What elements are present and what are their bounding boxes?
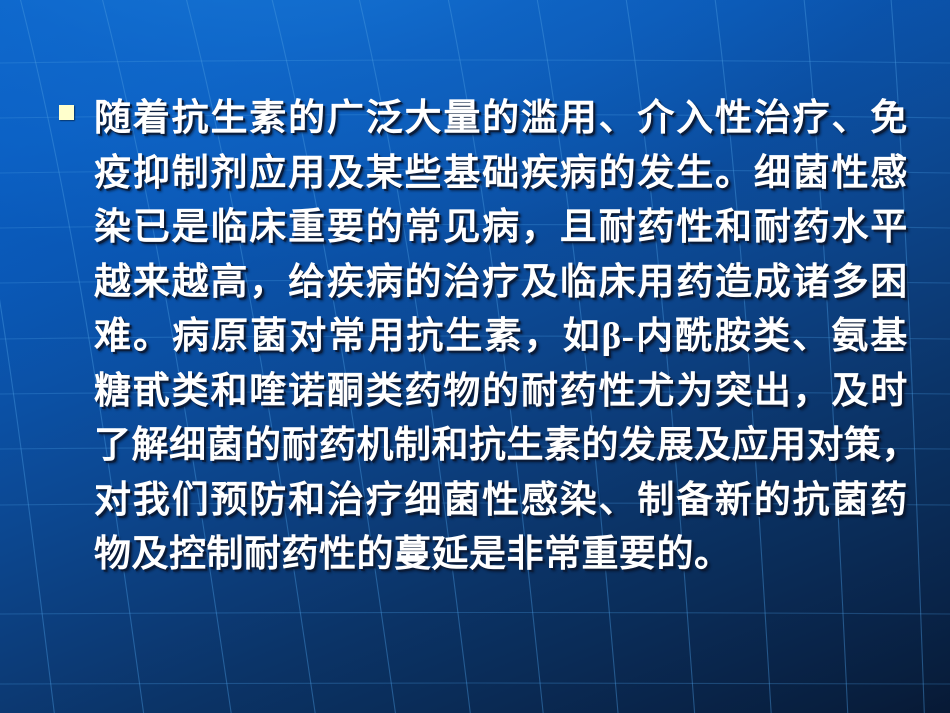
text-glyph: 临 — [210, 201, 248, 256]
text-glyph: 时 — [870, 365, 908, 420]
text-line-9: 物及控制耐药性的蔓延是非常重要的。 — [94, 528, 908, 583]
text-glyph: 泛 — [366, 92, 404, 147]
text-glyph: 内 — [636, 310, 674, 365]
text-glyph: 生 — [676, 147, 714, 202]
text-glyph: 疗 — [793, 92, 831, 147]
text-glyph: 着 — [133, 92, 171, 147]
text-glyph: 性 — [482, 474, 520, 529]
text-glyph: 原 — [211, 310, 249, 365]
text-glyph: 重 — [288, 201, 326, 256]
text-glyph: 滥 — [521, 92, 559, 147]
text-glyph: 用 — [560, 92, 598, 147]
text-glyph: 药 — [676, 256, 714, 311]
text-glyph: 预 — [210, 474, 248, 529]
text-glyph: 的 — [582, 419, 620, 474]
text-glyph: ， — [249, 256, 287, 311]
text-glyph: 应 — [249, 147, 287, 202]
text-glyph: 的 — [754, 474, 792, 529]
text-glyph: 制 — [172, 147, 210, 202]
text-glyph: 喹 — [249, 365, 287, 420]
text-glyph: 来 — [133, 256, 171, 311]
text-glyph: 疗 — [366, 474, 404, 529]
text-glyph: 类 — [172, 365, 210, 420]
text-glyph: 甙 — [133, 365, 171, 420]
text-glyph: 诸 — [793, 256, 831, 311]
text-glyph: 素 — [249, 92, 287, 147]
text-glyph: 见 — [443, 201, 481, 256]
text-glyph: 、 — [792, 310, 830, 365]
text-glyph: 及 — [694, 419, 732, 474]
text-glyph: 疫 — [94, 147, 132, 202]
text-line-4: 越来越高，给疾病的治疗及临床用药造成诸多困 — [94, 256, 908, 311]
text-glyph: 抗 — [172, 92, 210, 147]
square-bullet-icon — [59, 105, 74, 120]
text-line-2: 疫抑制剂应用及某些基础疾病的发生。细菌性感 — [94, 147, 908, 202]
text-glyph: 、 — [599, 474, 637, 529]
text-glyph: 给 — [288, 256, 326, 311]
text-glyph: 要 — [327, 201, 365, 256]
text-glyph: 及 — [831, 365, 869, 420]
text-glyph: 展 — [657, 419, 695, 474]
bullet-paragraph: 随着抗生素的广泛大量的滥用、介入性治疗、免 疫抑制剂应用及某些基础疾病的发生。细… — [52, 92, 908, 583]
text-glyph: 用 — [769, 419, 807, 474]
text-glyph: 。 — [715, 147, 753, 202]
text-glyph: 类 — [753, 310, 791, 365]
text-glyph: 尤 — [637, 365, 675, 420]
text-glyph: 、 — [599, 92, 637, 147]
text-glyph: 性 — [831, 147, 869, 202]
text-glyph: 免 — [870, 92, 908, 147]
text-glyph: 药 — [793, 201, 831, 256]
text-glyph: 用 — [367, 310, 405, 365]
text-glyph: 广 — [327, 92, 365, 147]
text-glyph: 和 — [210, 365, 248, 420]
text-glyph: 药 — [405, 365, 443, 420]
text-glyph: 耐 — [599, 201, 637, 256]
text-glyph: 解 — [132, 419, 170, 474]
text-glyph: ， — [793, 365, 831, 420]
text-glyph: 用 — [288, 147, 326, 202]
text-glyph: 某 — [366, 147, 404, 202]
text-glyph: 已 — [133, 201, 171, 256]
text-glyph: 越 — [94, 256, 132, 311]
text-glyph: 、 — [831, 92, 869, 147]
text-glyph: 抗 — [406, 310, 444, 365]
text-glyph: 用 — [637, 256, 675, 311]
text-glyph: 病 — [560, 147, 598, 202]
text-glyph: 菌 — [831, 474, 869, 529]
text-glyph: ， — [524, 310, 562, 365]
text-glyph: 性 — [599, 365, 637, 420]
text-glyph: 氨 — [831, 310, 869, 365]
text-glyph: 们 — [172, 474, 210, 529]
text-glyph: 如 — [563, 310, 601, 365]
text-glyph: 剂 — [210, 147, 248, 202]
text-glyph: 困 — [870, 256, 908, 311]
text-glyph: 发 — [637, 147, 675, 202]
text-glyph: 染 — [94, 201, 132, 256]
text-glyph: 应 — [732, 419, 770, 474]
text-glyph: 细 — [169, 419, 207, 474]
text-glyph: 染 — [560, 474, 598, 529]
text-glyph: 的 — [599, 147, 637, 202]
text-glyph: 造 — [715, 256, 753, 311]
text-glyph: 感 — [521, 474, 559, 529]
text-glyph: 细 — [754, 147, 792, 202]
text-glyph: 生 — [507, 419, 545, 474]
text-glyph: 床 — [599, 256, 637, 311]
text-glyph: 些 — [405, 147, 443, 202]
text-line-3: 染已是临床重要的常见病，且耐药性和耐药水平 — [94, 201, 908, 256]
text-glyph: 机 — [357, 419, 395, 474]
text-glyph: 我 — [133, 474, 171, 529]
text-glyph: 物 — [443, 365, 481, 420]
text-glyph: 临 — [560, 256, 598, 311]
text-glyph: 了 — [94, 419, 132, 474]
text-line-5: 难。病原菌对常用抗生素，如β-内酰胺类、氨基 — [94, 310, 908, 365]
text-glyph: 入 — [676, 92, 714, 147]
text-glyph: 酰 — [675, 310, 713, 365]
text-glyph: 突 — [715, 365, 753, 420]
text-glyph: 耐 — [754, 201, 792, 256]
text-glyph: 疗 — [482, 256, 520, 311]
text-glyph: 高 — [210, 256, 248, 311]
text-glyph: 菌 — [443, 474, 481, 529]
text-glyph: 对 — [289, 310, 327, 365]
text-glyph: 药 — [870, 474, 908, 529]
text-glyph: 抗 — [793, 474, 831, 529]
text-glyph: β- — [602, 310, 635, 365]
body-paragraph: 随着抗生素的广泛大量的滥用、介入性治疗、免 疫抑制剂应用及某些基础疾病的发生。细… — [94, 92, 908, 583]
text-glyph: 础 — [482, 147, 520, 202]
text-glyph: 新 — [715, 474, 753, 529]
text-glyph: 多 — [831, 256, 869, 311]
text-glyph: 床 — [249, 201, 287, 256]
text-glyph: 及 — [327, 147, 365, 202]
text-glyph: 病 — [482, 201, 520, 256]
text-glyph: 基 — [870, 310, 908, 365]
text-glyph: 性 — [676, 201, 714, 256]
text-glyph: 治 — [443, 256, 481, 311]
text-glyph: 出 — [754, 365, 792, 420]
text-glyph: 。 — [133, 310, 171, 365]
text-glyph: 且 — [560, 201, 598, 256]
text-glyph: 耐 — [521, 365, 559, 420]
text-glyph: 和 — [288, 474, 326, 529]
text-glyph: 策， — [844, 419, 919, 474]
text-glyph: 菌 — [793, 147, 831, 202]
text-glyph: 类 — [366, 365, 404, 420]
text-glyph: 感 — [870, 147, 908, 202]
text-glyph: 菌 — [250, 310, 288, 365]
text-glyph: 对 — [807, 419, 845, 474]
text-line-1: 随着抗生素的广泛大量的滥用、介入性治疗、免 — [94, 92, 908, 147]
text-glyph: 治 — [754, 92, 792, 147]
text-glyph: 的 — [366, 201, 404, 256]
text-line-7: 了解细菌的耐药机制和抗生素的发展及应用对策， — [94, 419, 908, 474]
text-glyph: 常 — [405, 201, 443, 256]
text-glyph: 难 — [94, 310, 132, 365]
text-glyph: 制 — [637, 474, 675, 529]
text-glyph: 成 — [754, 256, 792, 311]
text-glyph: 的 — [288, 92, 326, 147]
text-glyph: 对 — [94, 474, 132, 529]
text-glyph: 制 — [394, 419, 432, 474]
text-glyph: 随 — [94, 92, 132, 147]
text-glyph: 药 — [560, 365, 598, 420]
text-glyph: 的 — [244, 419, 282, 474]
text-glyph: 为 — [676, 365, 714, 420]
text-glyph: 的 — [405, 256, 443, 311]
text-glyph: 病 — [366, 256, 404, 311]
text-glyph: 和 — [715, 201, 753, 256]
text-glyph: 防 — [249, 474, 287, 529]
text-glyph: 备 — [676, 474, 714, 529]
text-glyph: 的 — [482, 365, 520, 420]
text-glyph: 药 — [637, 201, 675, 256]
text-glyph: 是 — [172, 201, 210, 256]
text-glyph: 常 — [328, 310, 366, 365]
text-glyph: 的 — [482, 92, 520, 147]
text-glyph: 平 — [870, 201, 908, 256]
presentation-slide: 随着抗生素的广泛大量的滥用、介入性治疗、免 疫抑制剂应用及某些基础疾病的发生。细… — [0, 0, 950, 713]
text-glyph: 耐 — [282, 419, 320, 474]
text-glyph: 胺 — [714, 310, 752, 365]
text-glyph: 糖 — [94, 365, 132, 420]
text-glyph: 生 — [445, 310, 483, 365]
text-glyph: 越 — [172, 256, 210, 311]
text-glyph: 病 — [172, 310, 210, 365]
text-glyph: 抗 — [469, 419, 507, 474]
text-glyph: 诺 — [288, 365, 326, 420]
slide-body-text-block: 随着抗生素的广泛大量的滥用、介入性治疗、免 疫抑制剂应用及某些基础疾病的发生。细… — [52, 92, 908, 583]
text-glyph: 大 — [405, 92, 443, 147]
text-glyph: 素 — [544, 419, 582, 474]
text-glyph: 介 — [637, 92, 675, 147]
text-glyph: 酮 — [327, 365, 365, 420]
text-glyph: 性 — [715, 92, 753, 147]
text-glyph: 量 — [443, 92, 481, 147]
text-glyph: 疾 — [521, 147, 559, 202]
text-line-6: 糖甙类和喹诺酮类药物的耐药性尤为突出，及时 — [94, 365, 908, 420]
text-glyph: 生 — [210, 92, 248, 147]
text-glyph: 基 — [443, 147, 481, 202]
text-glyph: 细 — [405, 474, 443, 529]
text-glyph: ， — [521, 201, 559, 256]
text-line-8: 对我们预防和治疗细菌性感染、制备新的抗菌药 — [94, 474, 908, 529]
text-glyph: 及 — [521, 256, 559, 311]
text-glyph: 药 — [319, 419, 357, 474]
text-glyph: 治 — [327, 474, 365, 529]
text-glyph: 疾 — [327, 256, 365, 311]
text-glyph: 水 — [831, 201, 869, 256]
text-glyph: 抑 — [133, 147, 171, 202]
text-glyph: 发 — [619, 419, 657, 474]
text-glyph: 菌 — [207, 419, 245, 474]
text-glyph: 和 — [432, 419, 470, 474]
text-glyph: 素 — [484, 310, 522, 365]
